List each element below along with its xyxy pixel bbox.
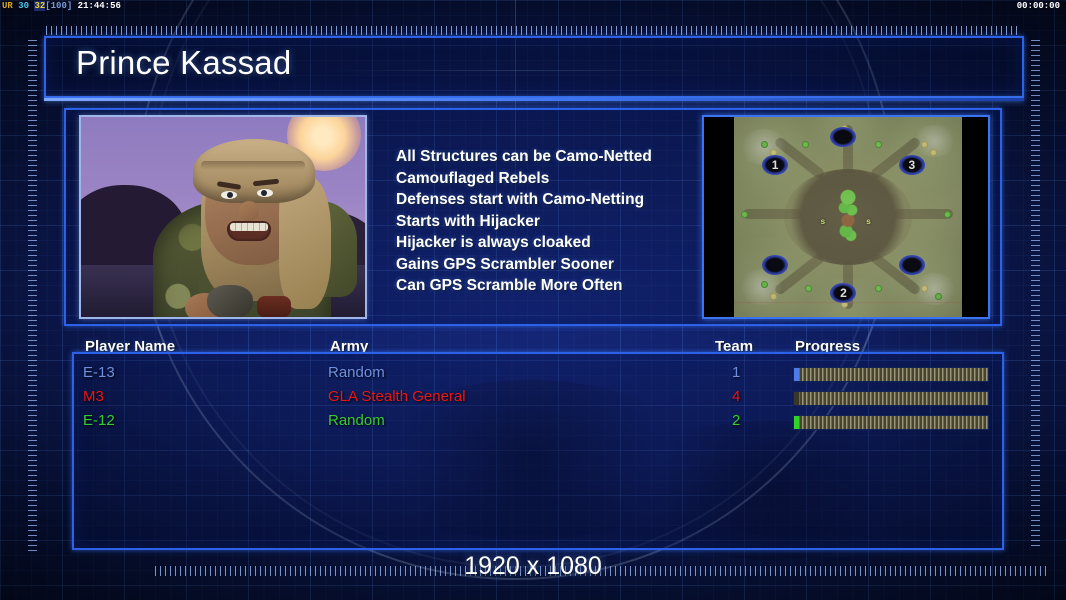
portrait-teacup: [257, 296, 291, 319]
cell-army: GLA Stealth General: [328, 388, 466, 405]
player-list-panel: E-13Random1M3GLA Stealth General4E-12Ran…: [72, 352, 1004, 550]
resolution-label: 1920 x 1080: [0, 552, 1066, 581]
frame-ruler-right: [1031, 40, 1040, 548]
frame-ruler-top: [46, 26, 1020, 35]
progress-bar: [793, 367, 989, 382]
cell-player-name: E-12: [83, 412, 115, 429]
hud-value-1: 30: [18, 1, 29, 11]
ability-line: Can GPS Scramble More Often: [396, 275, 696, 297]
ability-line: Defenses start with Camo-Netting: [396, 189, 696, 211]
hud-bracket: [100]: [45, 1, 72, 11]
progress-bar: [793, 391, 989, 406]
map-preview[interactable]: s s 132: [702, 115, 990, 319]
progress-bar-segments: [794, 416, 988, 429]
ability-line: Starts with Hijacker: [396, 211, 696, 233]
player-rows: E-13Random1M3GLA Stealth General4E-12Ran…: [74, 364, 1002, 436]
hud-performance-readout: UR 30 32[100] 21:44:56: [2, 1, 121, 11]
hud-clock: 21:44:56: [78, 1, 121, 11]
table-row[interactable]: E-13Random1: [74, 364, 1002, 388]
cell-army: Random: [328, 412, 385, 429]
hud-value-2: 32: [34, 1, 45, 11]
cell-team: 4: [732, 388, 740, 405]
progress-bar-lead: [794, 416, 799, 429]
game-screen: UR 30 32[100] 21:44:56 00:00:00 Prince K…: [0, 0, 1066, 600]
general-portrait: [79, 115, 367, 319]
frame-ruler-left: [28, 40, 37, 552]
hud-label: UR: [2, 1, 13, 11]
page-title: Prince Kassad: [76, 44, 291, 82]
portrait-nose: [239, 201, 259, 221]
table-row[interactable]: M3GLA Stealth General4: [74, 388, 1002, 412]
progress-bar-lead: [794, 392, 799, 405]
title-panel: Prince Kassad: [44, 36, 1024, 98]
cell-player-name: M3: [83, 388, 104, 405]
portrait-pupil: [261, 190, 267, 196]
ability-line: Gains GPS Scrambler Sooner: [396, 254, 696, 276]
ability-line: Hijacker is always cloaked: [396, 232, 696, 254]
cell-army: Random: [328, 364, 385, 381]
progress-bar: [793, 415, 989, 430]
ability-line: All Structures can be Camo-Netted: [396, 146, 696, 168]
map-preview-image: s s 132: [734, 117, 962, 317]
progress-bar-lead: [794, 368, 799, 381]
progress-bar-segments: [794, 392, 988, 405]
portrait-turban: [193, 139, 315, 203]
cell-player-name: E-13: [83, 364, 115, 381]
hud-match-timer: 00:00:00: [1017, 1, 1060, 11]
portrait-pupil: [227, 192, 233, 198]
map-haze: [734, 117, 962, 317]
cell-team: 2: [732, 412, 740, 429]
title-underline: [44, 98, 1024, 101]
ability-line: Camouflaged Rebels: [396, 168, 696, 190]
general-ability-list: All Structures can be Camo-NettedCamoufl…: [396, 146, 696, 297]
portrait-teapot: [207, 285, 253, 319]
progress-bar-segments: [794, 368, 988, 381]
cell-team: 1: [732, 364, 740, 381]
table-row[interactable]: E-12Random2: [74, 412, 1002, 436]
portrait-teeth: [230, 223, 268, 231]
